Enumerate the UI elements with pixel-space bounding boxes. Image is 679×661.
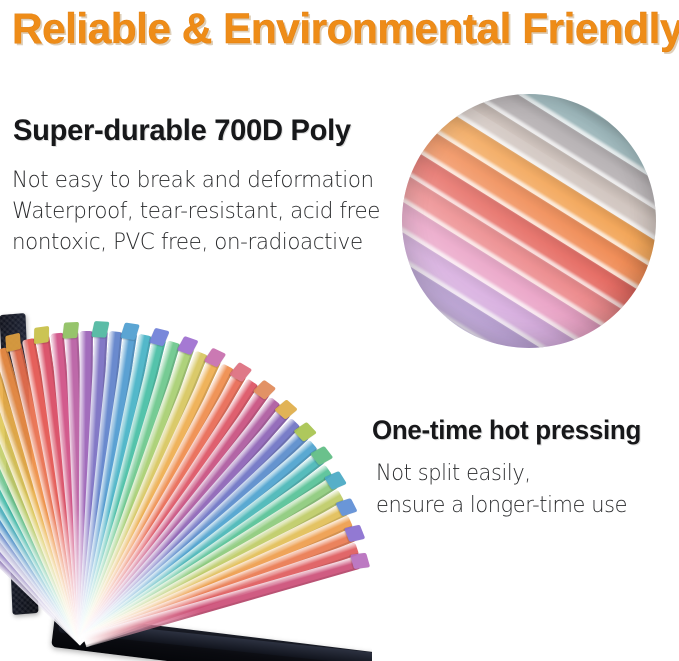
feature-body-durability: Not easy to break and deformation Waterp… — [12, 165, 380, 258]
expanding-file-folder-image — [0, 300, 372, 661]
folder-label-tab — [350, 553, 370, 569]
folder-label-tab — [5, 333, 21, 353]
feature-heading-durability: Super-durable 700D Poly — [13, 114, 351, 148]
feature-body-line: ensure a longer-time use — [376, 490, 627, 522]
circle-photo-bands — [402, 94, 656, 348]
feature-body-line: Not easy to break and deformation — [12, 165, 380, 196]
feature-body-line: Not split easily, — [376, 458, 627, 490]
page-title: Reliable & Environmental Friendly — [12, 6, 662, 54]
feature-body-hot-pressing: Not split easily, ensure a longer-time u… — [376, 458, 627, 522]
feature-graphic-stage: Reliable & Environmental Friendly Super-… — [0, 0, 679, 661]
feature-body-line: Waterproof, tear-resistant, acid free — [12, 196, 380, 227]
folder-label-tab — [344, 525, 365, 542]
folder-label-tab — [62, 322, 79, 339]
feature-heading-hot-pressing: One-time hot pressing — [372, 415, 641, 446]
folder-label-tab — [120, 323, 140, 341]
folder-label-tab — [34, 326, 49, 344]
closeup-translucent-folder-pockets-image — [402, 94, 656, 348]
feature-body-line: nontoxic, PVC free, on-radioactive — [12, 227, 380, 258]
